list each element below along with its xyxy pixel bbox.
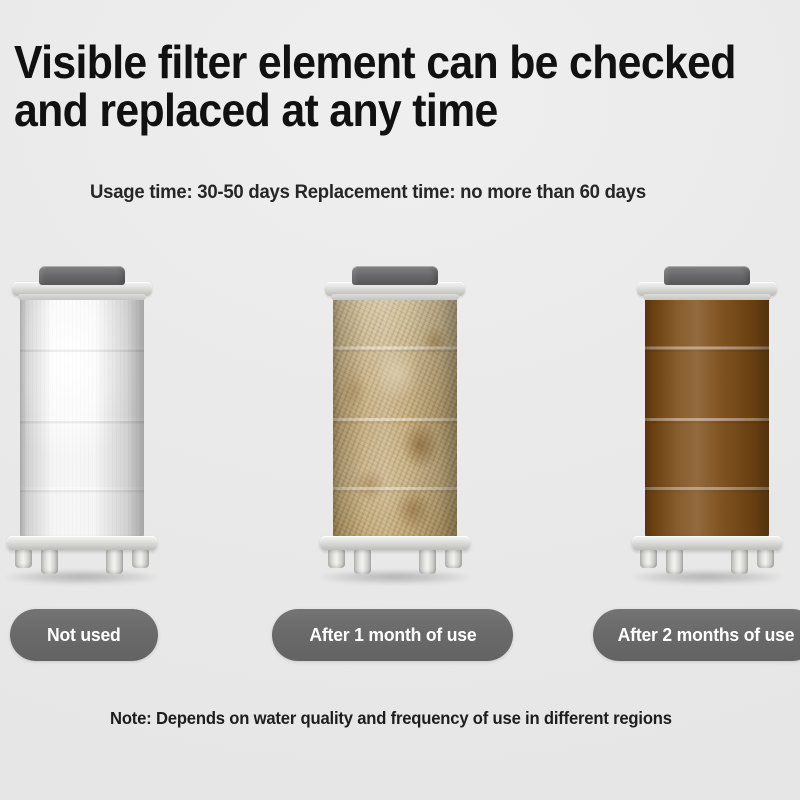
- cartridge-base-flange: [632, 536, 782, 550]
- caption-pill-two-months: After 2 months of use: [593, 609, 800, 661]
- cartridge-body: [20, 292, 144, 539]
- cartridge-foot: [132, 549, 149, 568]
- cartridge-top-knob: [664, 266, 750, 285]
- cartridge-top-knob: [352, 266, 438, 285]
- usage-subtitle: Usage time: 30-50 days Replacement time:…: [90, 181, 646, 204]
- filter-cartridge-not-used: [4, 262, 160, 577]
- cartridge-feet: [320, 549, 470, 575]
- infographic-poster: Visible filter element can be checked an…: [0, 0, 800, 800]
- cartridge-body: [645, 292, 769, 539]
- cartridge-foot: [757, 549, 774, 568]
- page-title: Visible filter element can be checked an…: [14, 38, 739, 134]
- cartridge-body: [333, 292, 457, 539]
- cartridge-foot: [666, 549, 683, 574]
- cartridge-foot: [15, 549, 32, 568]
- cartridge-foot: [640, 549, 657, 568]
- cartridge-foot: [106, 549, 123, 574]
- filter-cartridge-one-month: [317, 262, 473, 577]
- caption-label: After 1 month of use: [309, 624, 476, 646]
- cartridge-foot: [731, 549, 748, 574]
- caption-label: After 2 months of use: [617, 624, 794, 646]
- footer-note: Note: Depends on water quality and frequ…: [110, 708, 672, 729]
- caption-pill-not-used: Not used: [10, 609, 158, 661]
- caption-pill-one-month: After 1 month of use: [272, 609, 513, 661]
- cartridge-feet: [632, 549, 782, 575]
- cartridge-foot: [354, 549, 371, 574]
- filter-media-texture-clean: [20, 292, 144, 539]
- caption-label: Not used: [47, 624, 121, 646]
- cartridge-foot: [41, 549, 58, 574]
- cartridge-foot: [445, 549, 462, 568]
- cartridge-feet: [7, 549, 157, 575]
- filter-cartridge-two-months: [629, 262, 785, 577]
- cartridge-foot: [419, 549, 436, 574]
- cartridge-foot: [328, 549, 345, 568]
- cartridge-base-flange: [320, 536, 470, 550]
- cartridge-base-flange: [7, 536, 157, 550]
- cartridge-top-knob: [39, 266, 125, 285]
- filter-media-texture-rust: [645, 292, 769, 539]
- filter-media-texture-tan: [333, 292, 457, 539]
